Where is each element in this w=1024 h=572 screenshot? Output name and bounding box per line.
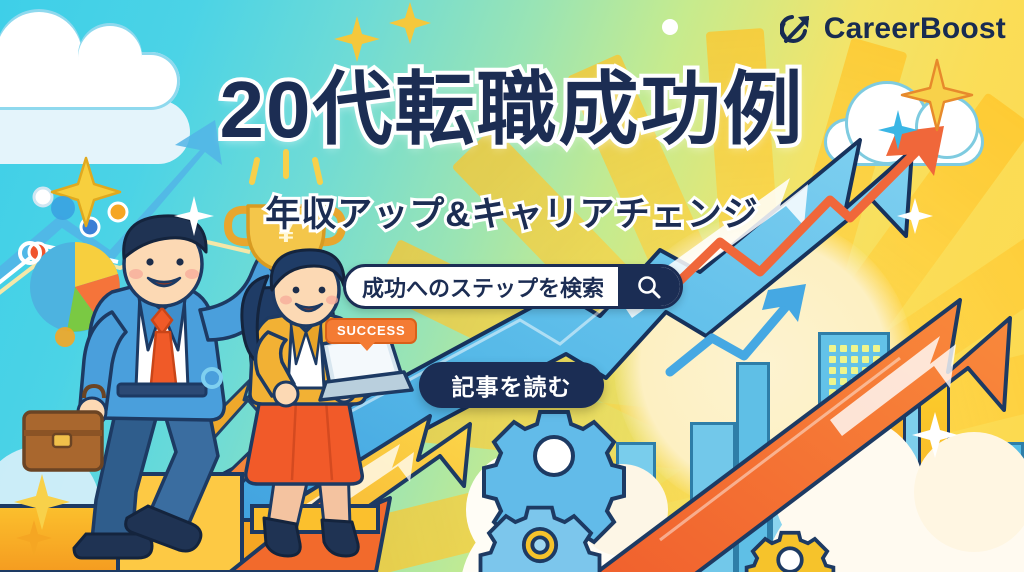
sparkle-star-blue-2 [334,16,380,62]
sparkle-star-yellow-5 [389,2,431,44]
sparkle-star-white-3 [912,412,958,458]
status-badge: SUCCESS [325,318,417,344]
page-subtitle: 年収アップ&キャリアチェンジ [0,186,1024,237]
brand-name: CareerBoost [824,12,1006,46]
brand-logo[interactable]: CareerBoost [780,12,1006,46]
hero-banner: ¥ [0,0,1024,572]
read-article-button[interactable]: 記事を読む [419,362,604,408]
page-title: 20代転職成功例 [0,70,1024,150]
dot-decor-2 [55,327,75,347]
gear-icon-small [747,533,834,572]
dot-decor-3 [662,19,678,35]
search-icon [635,273,663,301]
search-button[interactable] [618,267,680,306]
search-input[interactable]: 成功へのステップを検索 [346,271,618,303]
boost-arrow-icon [780,12,814,46]
search-bar[interactable]: 成功へのステップを検索 [343,264,683,309]
